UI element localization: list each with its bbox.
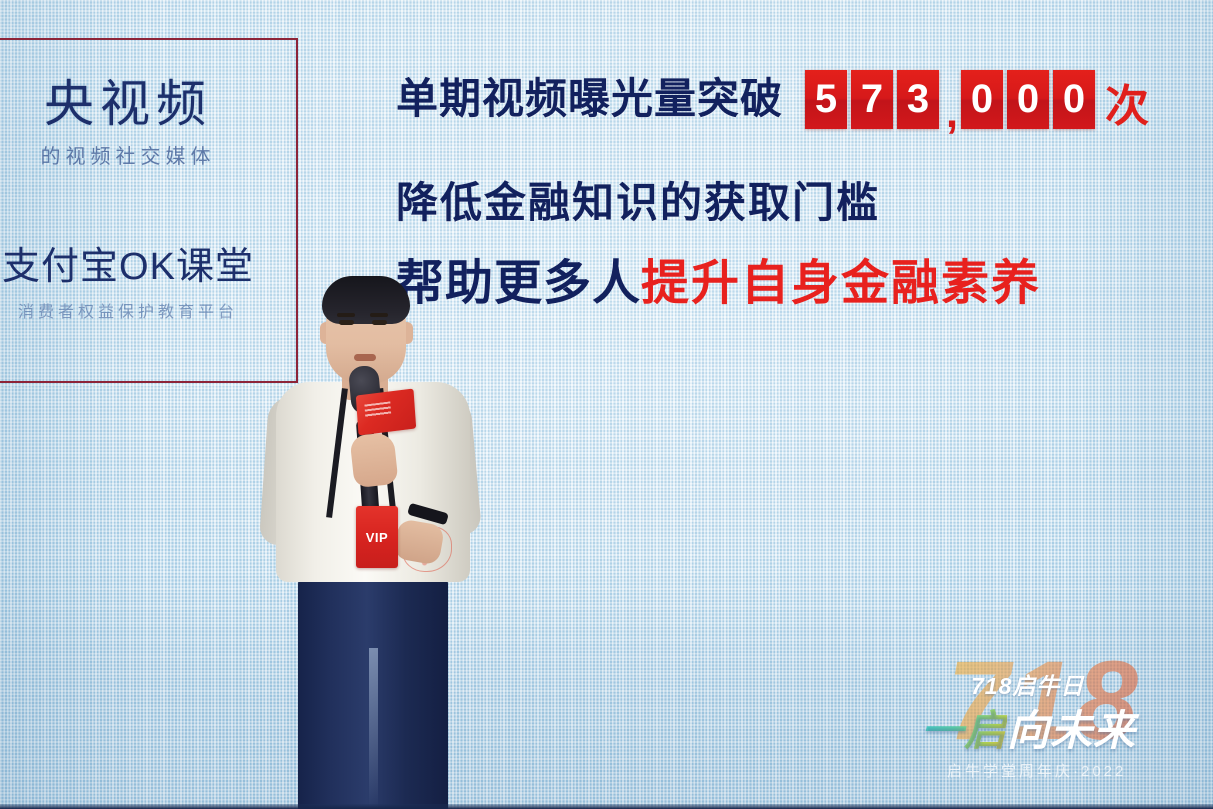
counter-digit-1: 7 <box>851 70 893 129</box>
exposure-counter: 5 7 3 , 0 0 0 次 <box>805 70 1149 129</box>
counter-digit-4: 0 <box>1007 70 1049 129</box>
speaker-right-eyebrow <box>370 313 388 317</box>
cctv-video-logo-text: 央视频 <box>0 78 296 131</box>
slide-line-1: 单期视频曝光量突破 5 7 3 , 0 0 0 次 <box>396 62 1213 136</box>
speaker-left-eye <box>339 320 354 325</box>
slide-line-2: 降低金融知识的获取门槛 <box>396 182 1213 224</box>
stage-bottom-edge <box>0 804 1213 809</box>
vip-badge-label: VIP <box>356 530 398 545</box>
microphone-branding-cube <box>356 389 416 436</box>
alipay-ok-classroom-subtitle: 消费者权益保护教育平台 <box>0 298 296 322</box>
alipay-ok-classroom-logo-text: 支付宝OK课堂 <box>0 235 296 290</box>
slide-line-3-red-segment: 提升自身金融素养 <box>641 257 1041 310</box>
speaker-right-eye <box>372 320 387 325</box>
counter-digit-0: 5 <box>805 70 847 129</box>
event-logo: 718 718启牛日 一启向未来 启牛学堂周年庆·2022 <box>919 649 1199 789</box>
speaker-trousers <box>298 576 448 809</box>
speaker-hand-holding-microphone <box>349 432 398 488</box>
speaker-left-eyebrow <box>337 313 355 317</box>
logo-panel: 央视频 的视频社交媒体 支付宝OK课堂 消费者权益保护教育平台 <box>0 38 298 383</box>
vip-badge: VIP <box>356 506 398 568</box>
counter-comma: , <box>943 98 961 129</box>
speaker-person: VIP <box>256 270 486 809</box>
event-logo-sub-line: 启牛学堂周年庆·2022 <box>947 760 1126 781</box>
logo-panel-content: 央视频 的视频社交媒体 支付宝OK课堂 消费者权益保护教育平台 <box>0 40 296 381</box>
cctv-video-logo-subtitle: 的视频社交媒体 <box>0 140 296 169</box>
speaker-mouth <box>354 354 376 361</box>
slide-line-3: 帮助更多人提升自身金融素养 <box>396 260 1213 308</box>
event-logo-top-line: 718启牛日 <box>971 667 1084 701</box>
slide-text-block: 单期视频曝光量突破 5 7 3 , 0 0 0 次 降低金融知识的获取门槛 帮助… <box>396 62 1213 308</box>
speaker-hair <box>322 276 410 324</box>
event-logo-main-accent: 一启 <box>921 707 1007 754</box>
event-logo-main-rest: 向未来 <box>1007 707 1136 754</box>
counter-digit-3: 0 <box>961 70 1003 129</box>
screenshot-stage: 央视频 的视频社交媒体 支付宝OK课堂 消费者权益保护教育平台 单期视频曝光量突… <box>0 0 1213 809</box>
counter-digit-2: 3 <box>897 70 939 129</box>
counter-digit-5: 0 <box>1053 70 1095 129</box>
counter-unit-label: 次 <box>1105 85 1149 129</box>
event-logo-main-line: 一启向未来 <box>921 697 1136 758</box>
slide-line-1-prefix: 单期视频曝光量突破 <box>396 78 783 120</box>
